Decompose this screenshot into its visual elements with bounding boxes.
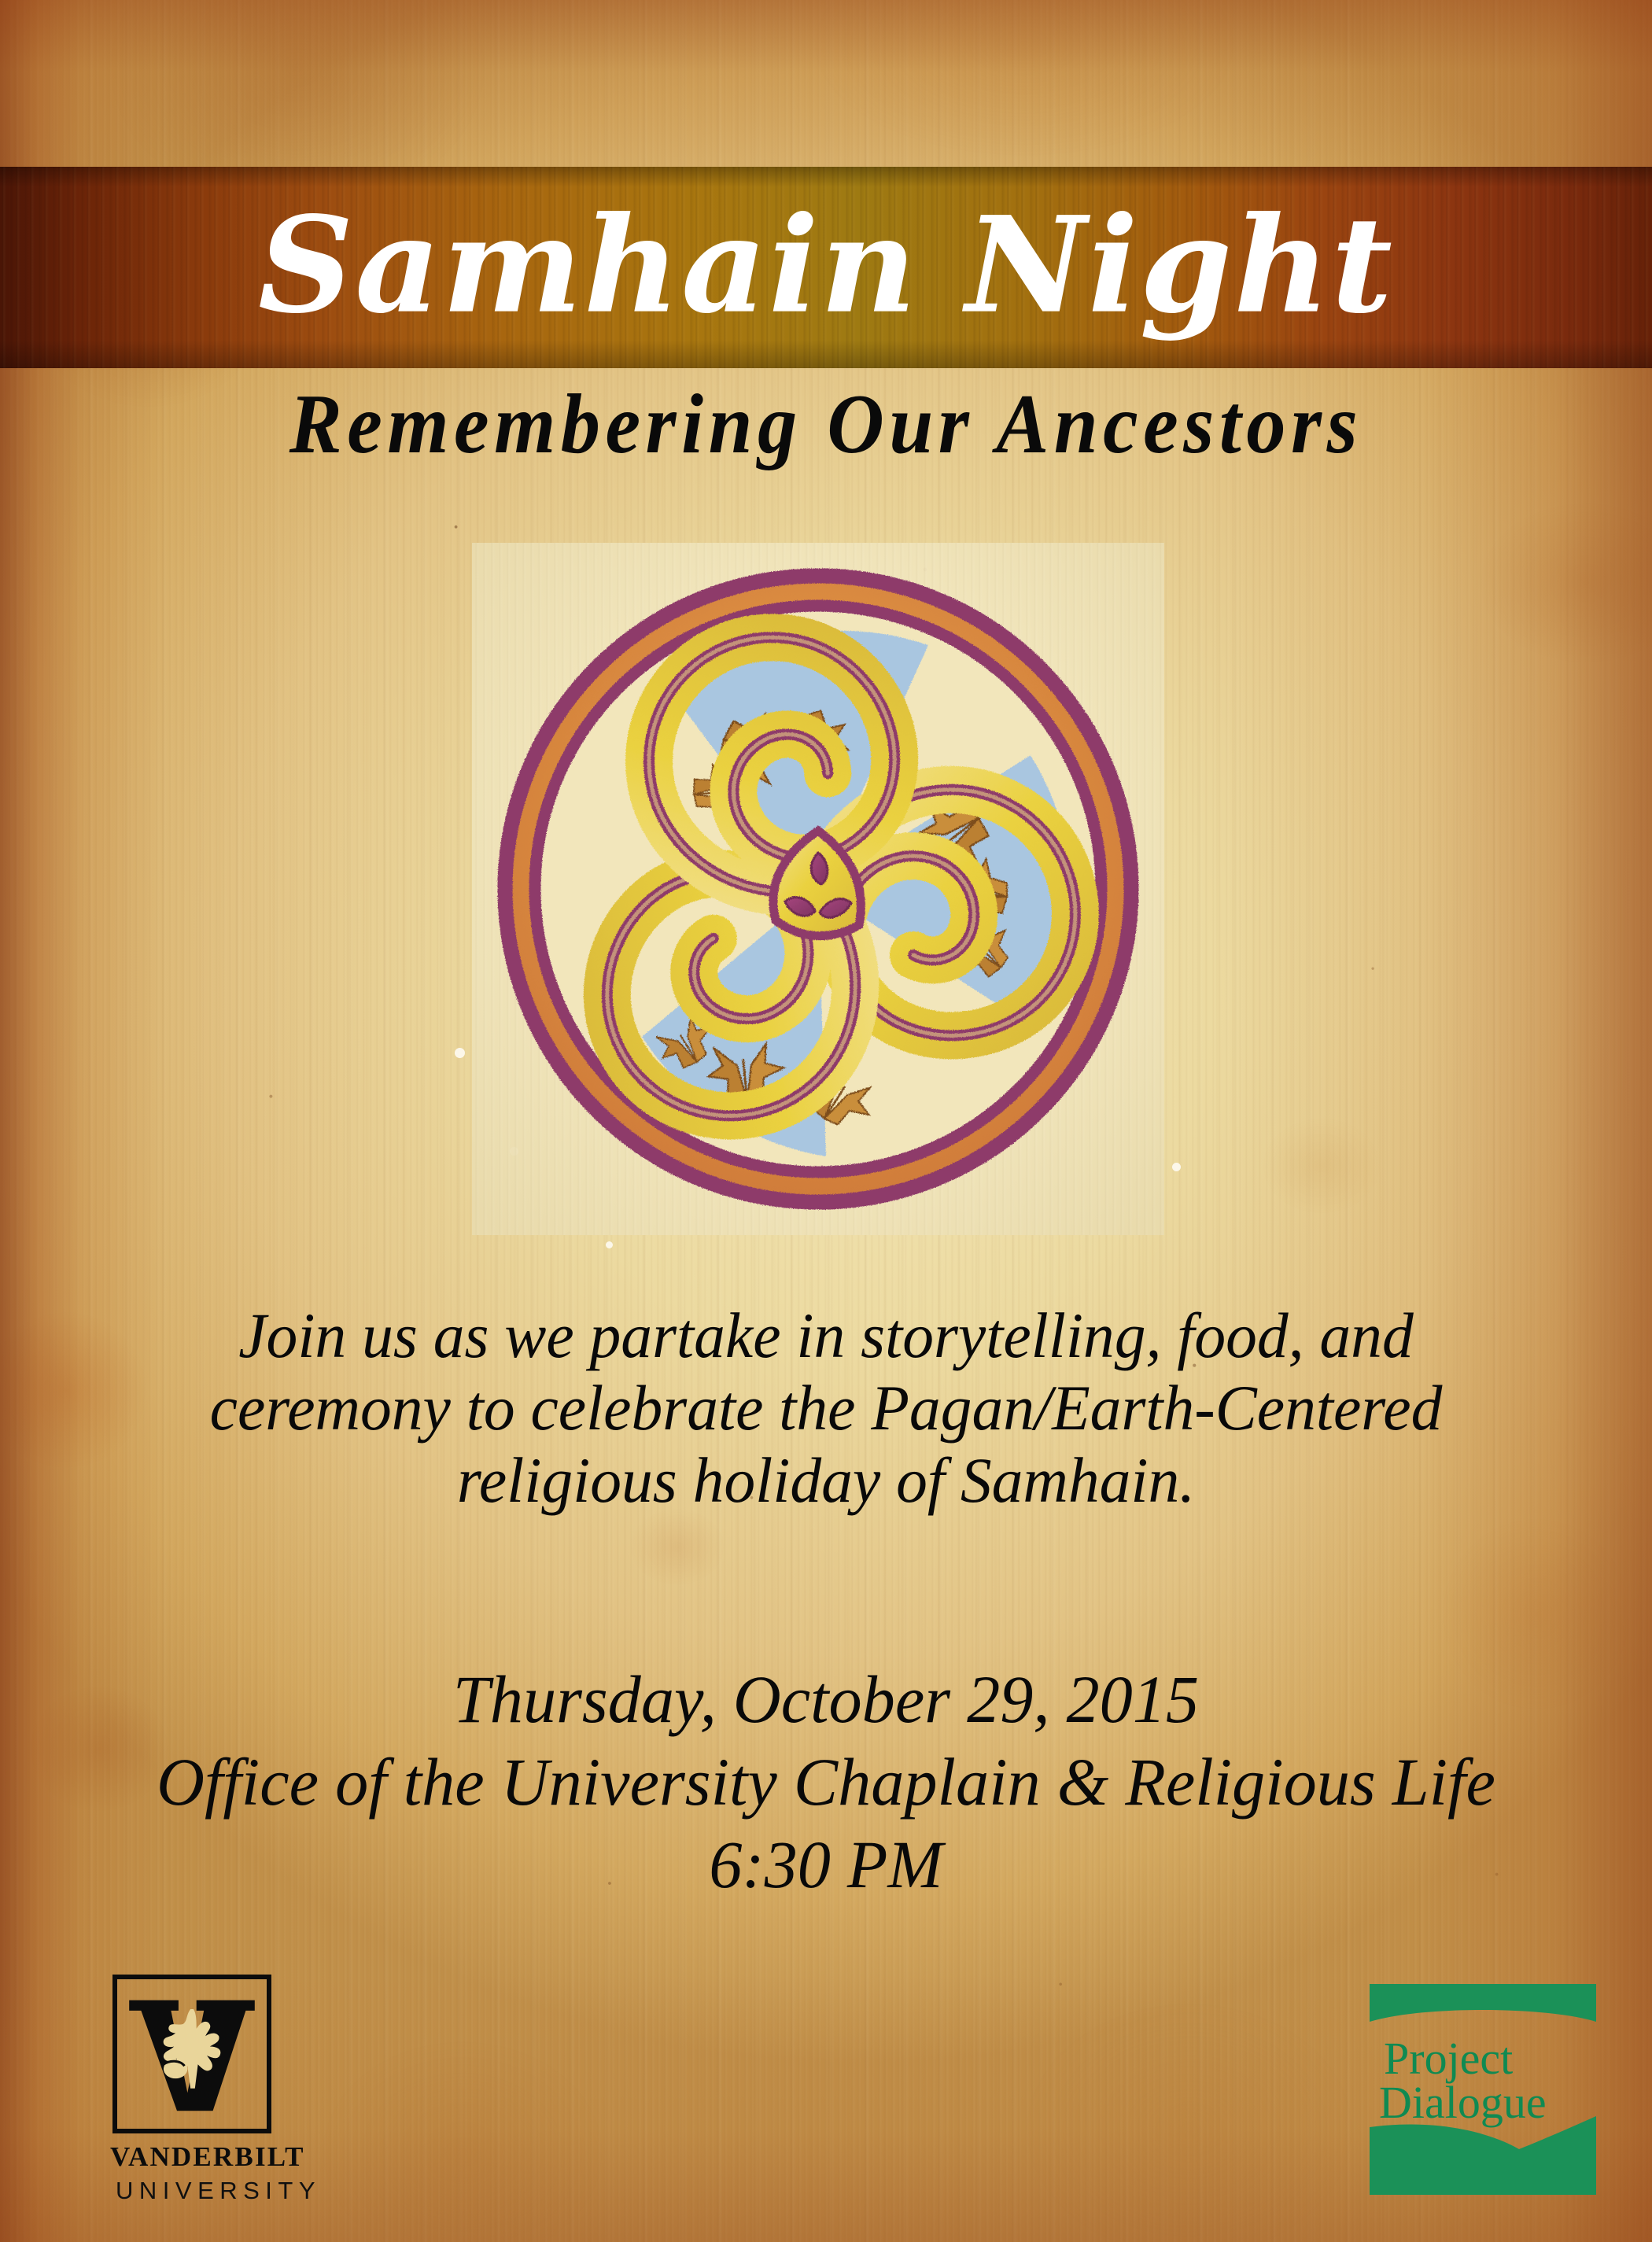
vanderbilt-v-oak-leaf-icon [117,1979,267,2129]
poster-subtitle: Remembering Our Ancestors [58,382,1595,467]
description-line-2: ceremony to celebrate the Pagan/Earth-Ce… [78,1372,1573,1444]
vanderbilt-logo: VANDERBILT UNIVERSITY [110,1975,274,2203]
description-line-3: religious holiday of Samhain. [78,1444,1573,1517]
vanderbilt-subwordmark: UNIVERSITY [110,2178,274,2203]
event-description: Join us as we partake in storytelling, f… [78,1300,1573,1516]
scratch-dot [455,1048,465,1058]
event-details: Thursday, October 29, 2015 Office of the… [39,1658,1612,1906]
pd-bottom-bar-shape [1370,2116,1596,2195]
celtic-triskele-icon [488,559,1149,1219]
project-dialogue-mark: Project Dialogue [1365,1981,1601,2200]
scratch-dot [606,1241,613,1248]
title-banner: Samhain Night [0,167,1652,368]
event-time: 6:30 PM [39,1823,1612,1906]
project-dialogue-logo: Project Dialogue [1365,1981,1601,2200]
vanderbilt-wordmark: VANDERBILT [110,2143,274,2170]
event-location: Office of the University Chaplain & Reli… [39,1741,1612,1823]
poster-root: Samhain Night Remembering Our Ancestors [0,0,1652,2242]
event-date: Thursday, October 29, 2015 [39,1658,1612,1741]
triskele-artwork [472,543,1164,1235]
poster-title: Samhain Night [0,199,1652,331]
description-line-1: Join us as we partake in storytelling, f… [78,1300,1573,1372]
pd-line-2: Dialogue [1379,2077,1547,2128]
pd-top-bar-shape [1370,1984,1596,2022]
scratch-dot [1172,1163,1181,1171]
vanderbilt-mark-box [112,1975,271,2133]
